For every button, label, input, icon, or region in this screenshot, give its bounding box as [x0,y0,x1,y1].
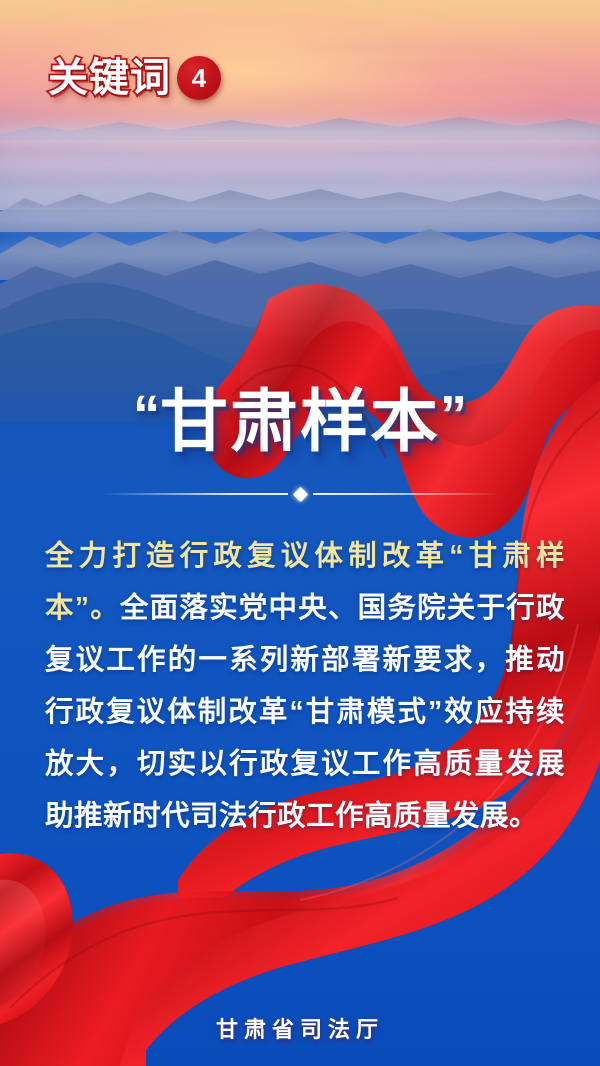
title-open-quote: “ [133,385,160,445]
organization-footer: 甘肃省司法厅 [0,1012,600,1044]
body-rest: 全面落实党中央、国务院关于行政复议工作的一系列新部署新要求，推动行政复议体制改革… [45,592,565,832]
cloud-streak [300,44,530,51]
title-text: 甘肃样本 [160,384,440,460]
body-paragraph: 全力打造行政复议体制改革“甘肃样本”。全面落实党中央、国务院关于行政复议工作的一… [45,530,565,842]
cloud-streak [420,86,590,92]
poster-canvas: 关键词 4 “甘肃样本” 全力打造行政复议体制改革“甘肃样本”。全面落实党中央、… [0,0,600,1066]
diamond-icon [292,486,308,502]
diamond-separator [100,487,500,501]
cloud-streak [250,96,390,101]
divider-line-right [313,493,501,495]
title-close-quote: ” [440,385,467,445]
cloud-streak [360,62,550,68]
keyword-header: 关键词 4 [48,56,221,100]
divider-line-left [100,493,288,495]
keyword-number-badge: 4 [177,56,221,100]
keyword-label: 关键词 [48,58,171,98]
page-title: “甘肃样本” [0,388,600,456]
